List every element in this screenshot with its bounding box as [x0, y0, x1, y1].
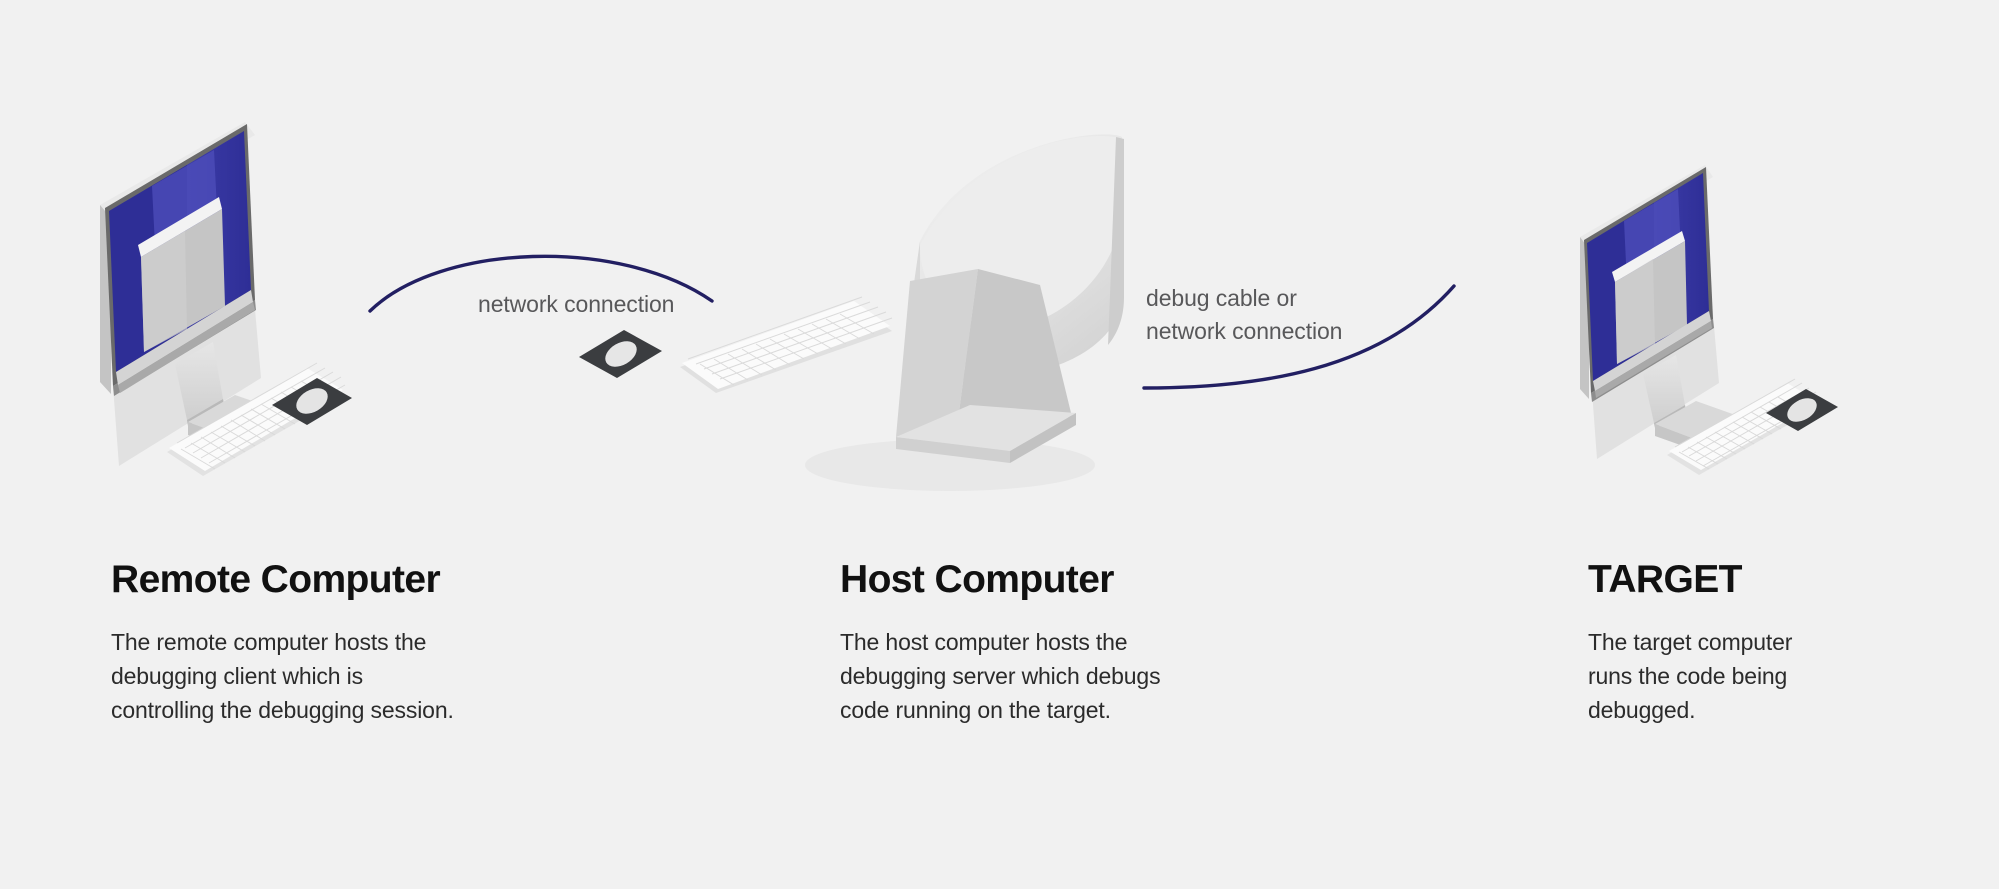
connection-label-debug: debug cable or network connection	[1146, 282, 1342, 348]
column-body-remote: The remote computer hosts the debugging …	[111, 603, 541, 727]
column-host: Host Computer The host computer hosts th…	[840, 557, 1270, 727]
illustration-target-computer	[1575, 155, 1915, 495]
column-title-host: Host Computer	[840, 557, 1270, 603]
column-title-target: TARGET	[1588, 557, 1968, 603]
column-title-remote: Remote Computer	[111, 557, 541, 603]
column-remote: Remote Computer The remote computer host…	[111, 557, 541, 727]
column-body-host: The host computer hosts the debugging se…	[840, 603, 1270, 727]
column-body-target: The target computer runs the code being …	[1588, 603, 1968, 727]
connection-label-network: network connection	[478, 288, 674, 321]
mousepad	[579, 330, 662, 378]
keyboard	[680, 297, 892, 393]
illustration-host-computer	[720, 145, 1130, 505]
illustration-remote-computer	[95, 110, 455, 500]
column-target: TARGET The target computer runs the code…	[1588, 557, 1968, 727]
diagram-canvas: network connection	[0, 0, 1999, 889]
